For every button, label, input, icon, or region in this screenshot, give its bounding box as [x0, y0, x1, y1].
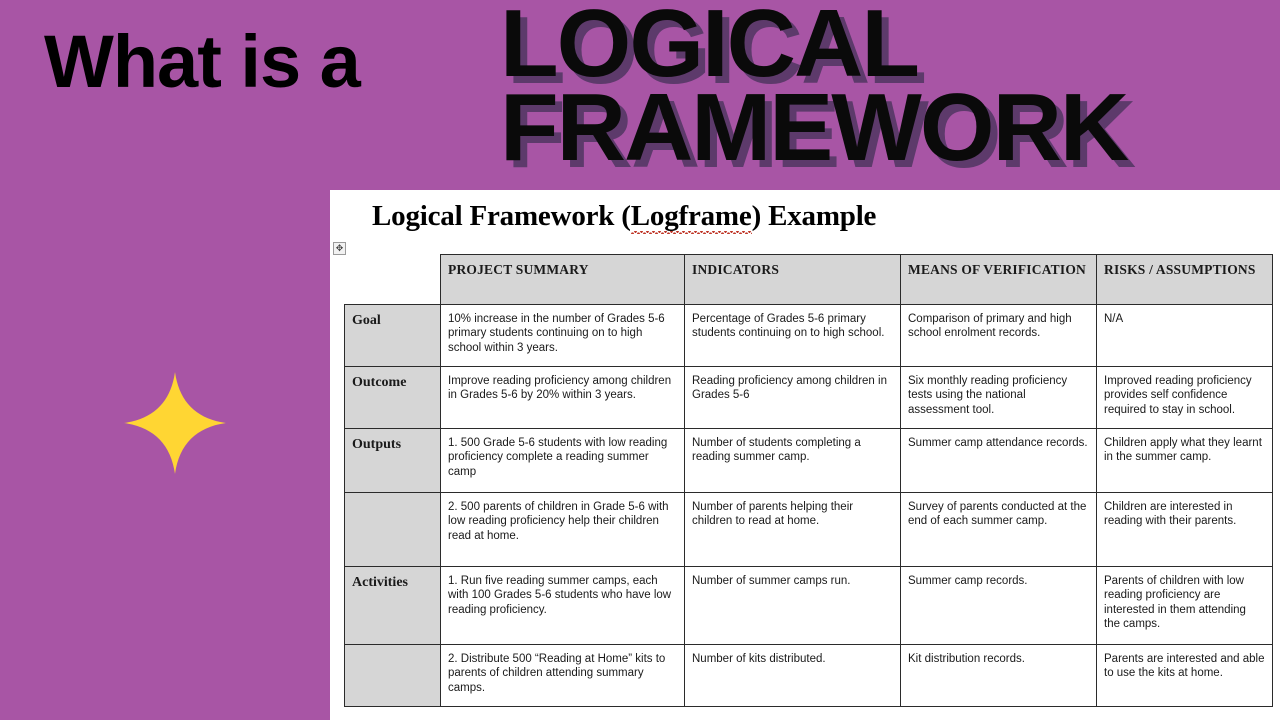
title-line-logical-framework: LOGICAL FRAMEWORK	[500, 2, 1127, 170]
cell-activity1-summary: 1. Run five reading summer camps, each w…	[441, 567, 685, 645]
cell-goal-means: Comparison of primary and high school en…	[901, 305, 1097, 367]
column-header-risks-assumptions: RISKS / ASSUMPTIONS	[1097, 255, 1273, 305]
row-label-outcome: Outcome	[345, 367, 441, 429]
cell-activity1-means: Summer camp records.	[901, 567, 1097, 645]
sparkle-star-icon	[122, 370, 228, 476]
cell-output2-means: Survey of parents conducted at the end o…	[901, 493, 1097, 567]
cell-activity2-summary: 2. Distribute 500 “Reading at Home” kits…	[441, 645, 685, 707]
cell-activity1-risks: Parents of children with low reading pro…	[1097, 567, 1273, 645]
cell-goal-indicators: Percentage of Grades 5-6 primary student…	[685, 305, 901, 367]
row-label-activities: Activities	[345, 567, 441, 645]
cell-output2-risks: Children are interested in reading with …	[1097, 493, 1273, 567]
heading-prefix: Logical Framework (	[372, 200, 631, 232]
table-corner-cell	[345, 255, 441, 305]
table-row: 2. 500 parents of children in Grade 5-6 …	[345, 493, 1273, 567]
title-overlay: What is a LOGICAL FRAMEWORK	[0, 0, 1280, 190]
document-heading: Logical Framework (Logframe) Example	[372, 200, 876, 233]
cell-goal-risks: N/A	[1097, 305, 1273, 367]
cell-activity2-indicators: Number of kits distributed.	[685, 645, 901, 707]
cell-output2-indicators: Number of parents helping their children…	[685, 493, 901, 567]
cell-output1-indicators: Number of students completing a reading …	[685, 429, 901, 493]
table-row: Outcome Improve reading proficiency amon…	[345, 367, 1273, 429]
column-header-project-summary: PROJECT SUMMARY	[441, 255, 685, 305]
column-header-means-of-verification: MEANS OF VERIFICATION	[901, 255, 1097, 305]
cell-output2-summary: 2. 500 parents of children in Grade 5-6 …	[441, 493, 685, 567]
document-page: Logical Framework (Logframe) Example ✥ P…	[330, 190, 1280, 720]
cell-goal-summary: 10% increase in the number of Grades 5-6…	[441, 305, 685, 367]
table-row: Activities 1. Run five reading summer ca…	[345, 567, 1273, 645]
cell-output1-summary: 1. 500 Grade 5-6 students with low readi…	[441, 429, 685, 493]
column-header-indicators: INDICATORS	[685, 255, 901, 305]
title-word-framework: FRAMEWORK	[500, 86, 1127, 170]
cell-outcome-summary: Improve reading proficiency among childr…	[441, 367, 685, 429]
heading-misspelled-word: Logframe	[631, 200, 752, 233]
cell-outcome-indicators: Reading proficiency among children in Gr…	[685, 367, 901, 429]
title-line-what-is-a: What is a	[44, 16, 360, 108]
table-header-row: PROJECT SUMMARY INDICATORS MEANS OF VERI…	[345, 255, 1273, 305]
table-row: Goal 10% increase in the number of Grade…	[345, 305, 1273, 367]
row-label-activities-continued	[345, 645, 441, 707]
cell-outcome-risks: Improved reading proficiency provides se…	[1097, 367, 1273, 429]
table-row: 2. Distribute 500 “Reading at Home” kits…	[345, 645, 1273, 707]
row-label-outputs-continued	[345, 493, 441, 567]
cell-output1-risks: Children apply what they learnt in the s…	[1097, 429, 1273, 493]
cell-activity1-indicators: Number of summer camps run.	[685, 567, 901, 645]
cell-outcome-means: Six monthly reading proficiency tests us…	[901, 367, 1097, 429]
cell-activity2-means: Kit distribution records.	[901, 645, 1097, 707]
heading-suffix: ) Example	[752, 200, 877, 232]
row-label-outputs: Outputs	[345, 429, 441, 493]
cell-output1-means: Summer camp attendance records.	[901, 429, 1097, 493]
cell-activity2-risks: Parents are interested and able to use t…	[1097, 645, 1273, 707]
row-label-goal: Goal	[345, 305, 441, 367]
logframe-table: PROJECT SUMMARY INDICATORS MEANS OF VERI…	[344, 254, 1273, 707]
table-row: Outputs 1. 500 Grade 5-6 students with l…	[345, 429, 1273, 493]
